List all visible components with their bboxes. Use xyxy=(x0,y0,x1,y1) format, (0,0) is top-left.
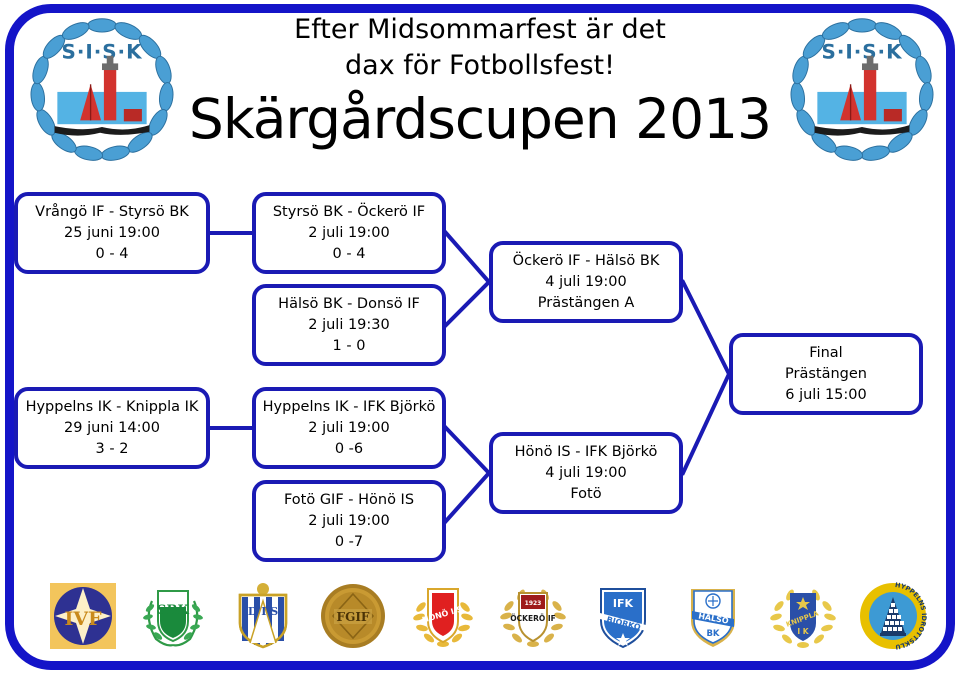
sbk-logo: SBK xyxy=(138,581,208,651)
hyppelns-ik-logo: HYPPELNS IDROTTSKLUBB xyxy=(858,581,928,651)
match-box-final[interactable]: Final Prästängen 6 juli 15:00 xyxy=(729,333,923,415)
match-score: 3 - 2 xyxy=(96,439,129,460)
match-datetime: 2 juli 19:00 xyxy=(308,223,390,244)
match-box-round2-2[interactable]: Hälsö BK - Donsö IF 2 juli 19:30 1 - 0 xyxy=(252,284,446,366)
match-teams: Hyppelns IK - IFK Björkö xyxy=(263,397,436,418)
knippla-ik-logo: KNIPPLA I K xyxy=(768,581,838,651)
tournament-poster: S·I·S·K Efter Midsommarfest är det dax f… xyxy=(0,0,960,674)
match-score: 0 - 4 xyxy=(96,244,129,265)
match-teams: Styrsö BK - Öckerö IF xyxy=(273,202,425,223)
match-datetime: 4 juli 19:00 xyxy=(545,272,627,293)
svg-text:ÖCKERÖ IF: ÖCKERÖ IF xyxy=(510,614,556,623)
match-datetime: 2 juli 19:00 xyxy=(308,511,390,532)
fgif-logo: FGIF xyxy=(318,581,388,651)
ockero-if-logo: 1923 ÖCKERÖ IF xyxy=(498,581,568,651)
match-box-semifinal-1[interactable]: Öckerö IF - Hälsö BK 4 juli 19:00 Prästä… xyxy=(489,241,683,323)
svg-text:IVF: IVF xyxy=(64,608,102,630)
match-box-round1-1[interactable]: Vrångö IF - Styrsö BK 25 juni 19:00 0 - … xyxy=(14,192,210,274)
match-score: 1 - 0 xyxy=(333,336,366,357)
match-datetime: 2 juli 19:30 xyxy=(308,315,390,336)
match-datetime: 29 juni 14:00 xyxy=(64,418,160,439)
match-box-semifinal-2[interactable]: Hönö IS - IFK Björkö 4 juli 19:00 Fotö xyxy=(489,432,683,514)
match-teams: Hönö IS - IFK Björkö xyxy=(515,442,658,463)
match-score: 0 -6 xyxy=(335,439,363,460)
hono-is-logo: HÖNÖ I.S xyxy=(408,581,478,651)
tournament-bracket: Vrångö IF - Styrsö BK 25 juni 19:00 0 - … xyxy=(0,0,960,674)
svg-text:1923: 1923 xyxy=(525,600,542,607)
match-box-round2-1[interactable]: Styrsö BK - Öckerö IF 2 juli 19:00 0 - 4 xyxy=(252,192,446,274)
dis-logo: D I S xyxy=(228,581,298,651)
svg-text:D I S: D I S xyxy=(248,605,278,618)
match-teams: Hälsö BK - Donsö IF xyxy=(278,294,420,315)
svg-text:I K: I K xyxy=(797,627,809,636)
final-venue: Prästängen xyxy=(785,364,867,385)
ifk-bjorko-logo: IFK BJÖRKÖ xyxy=(588,581,658,651)
svg-text:BK: BK xyxy=(706,629,719,639)
match-venue: Fotö xyxy=(570,484,601,505)
match-datetime: 2 juli 19:00 xyxy=(308,418,390,439)
svg-text:IFK: IFK xyxy=(613,597,634,610)
halso-bk-logo: HÄLSÖ BK xyxy=(678,581,748,651)
final-label: Final xyxy=(809,343,842,364)
match-datetime: 25 juni 19:00 xyxy=(64,223,160,244)
ivf-logo: IVF xyxy=(48,581,118,651)
match-datetime: 4 juli 19:00 xyxy=(545,463,627,484)
match-score: 0 -7 xyxy=(335,532,363,553)
svg-text:FGIF: FGIF xyxy=(337,610,370,624)
match-teams: Fotö GIF - Hönö IS xyxy=(284,490,414,511)
match-box-round2-3[interactable]: Hyppelns IK - IFK Björkö 2 juli 19:00 0 … xyxy=(252,387,446,469)
final-datetime: 6 juli 15:00 xyxy=(785,385,867,406)
svg-text:SBK: SBK xyxy=(157,603,189,618)
club-logo-row: IVF xyxy=(48,576,928,656)
match-score: 0 - 4 xyxy=(333,244,366,265)
match-teams: Vrångö IF - Styrsö BK xyxy=(35,202,189,223)
match-venue: Prästängen A xyxy=(538,293,635,314)
match-teams: Hyppelns IK - Knippla IK xyxy=(26,397,199,418)
match-box-round1-2[interactable]: Hyppelns IK - Knippla IK 29 juni 14:00 3… xyxy=(14,387,210,469)
match-box-round2-4[interactable]: Fotö GIF - Hönö IS 2 juli 19:00 0 -7 xyxy=(252,480,446,562)
match-teams: Öckerö IF - Hälsö BK xyxy=(513,251,660,272)
